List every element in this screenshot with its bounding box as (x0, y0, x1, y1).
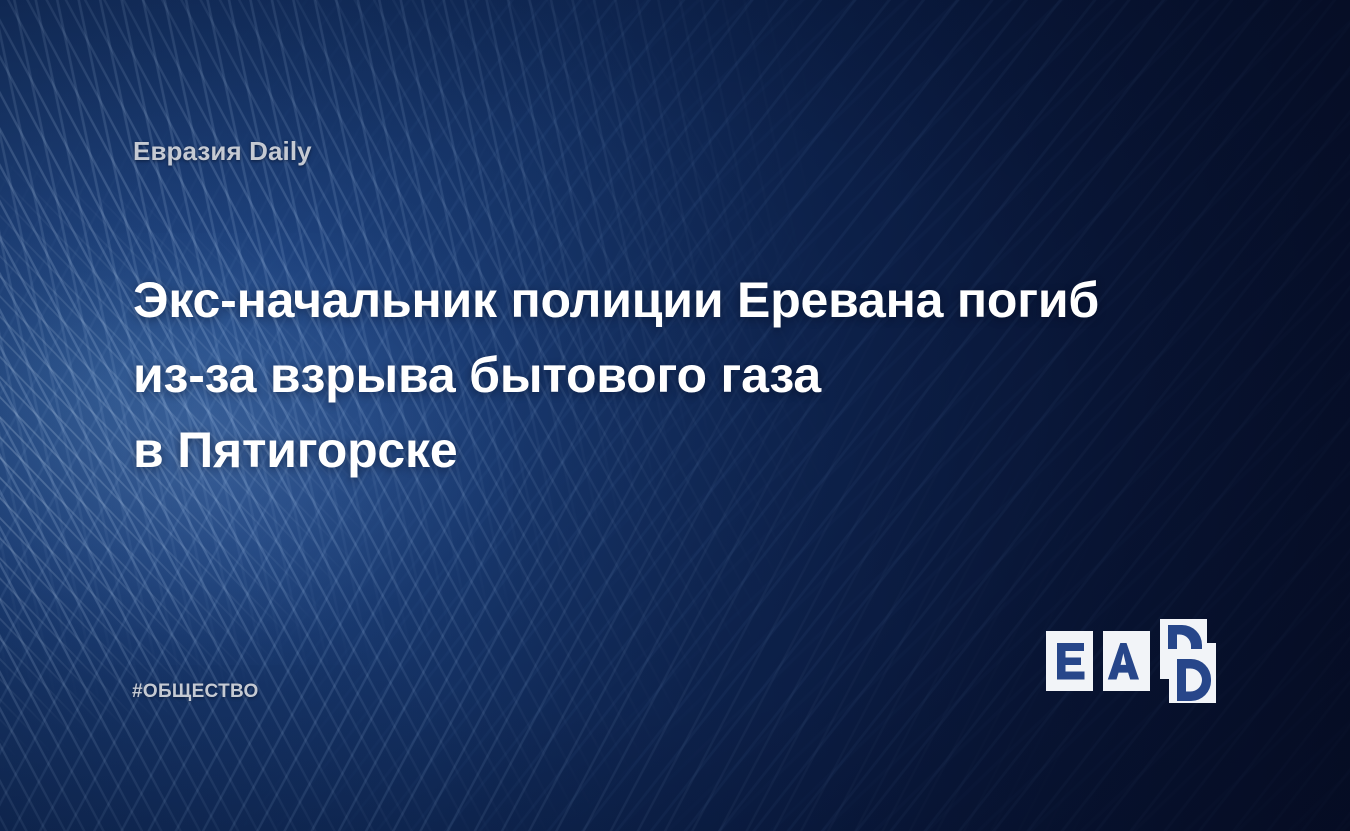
logo-letterforms-icon (1046, 619, 1226, 703)
page-title: Экс-начальник полиции Еревана погиб из-з… (133, 263, 1203, 488)
card-content: Евразия Daily Экс-начальник полиции Ерев… (0, 0, 1350, 831)
category-hashtag[interactable]: #ОБЩЕСТВО (132, 681, 259, 703)
headline-line-3: в Пятигорске (133, 413, 1203, 488)
news-card: Евразия Daily Экс-начальник полиции Ерев… (0, 0, 1350, 831)
headline-line-2: из-за взрыва бытового газа (133, 338, 1203, 413)
brand-name: Евразия Daily (133, 136, 312, 167)
eadaily-logo[interactable] (1046, 619, 1226, 703)
headline-line-1: Экс-начальник полиции Еревана погиб (133, 263, 1203, 338)
